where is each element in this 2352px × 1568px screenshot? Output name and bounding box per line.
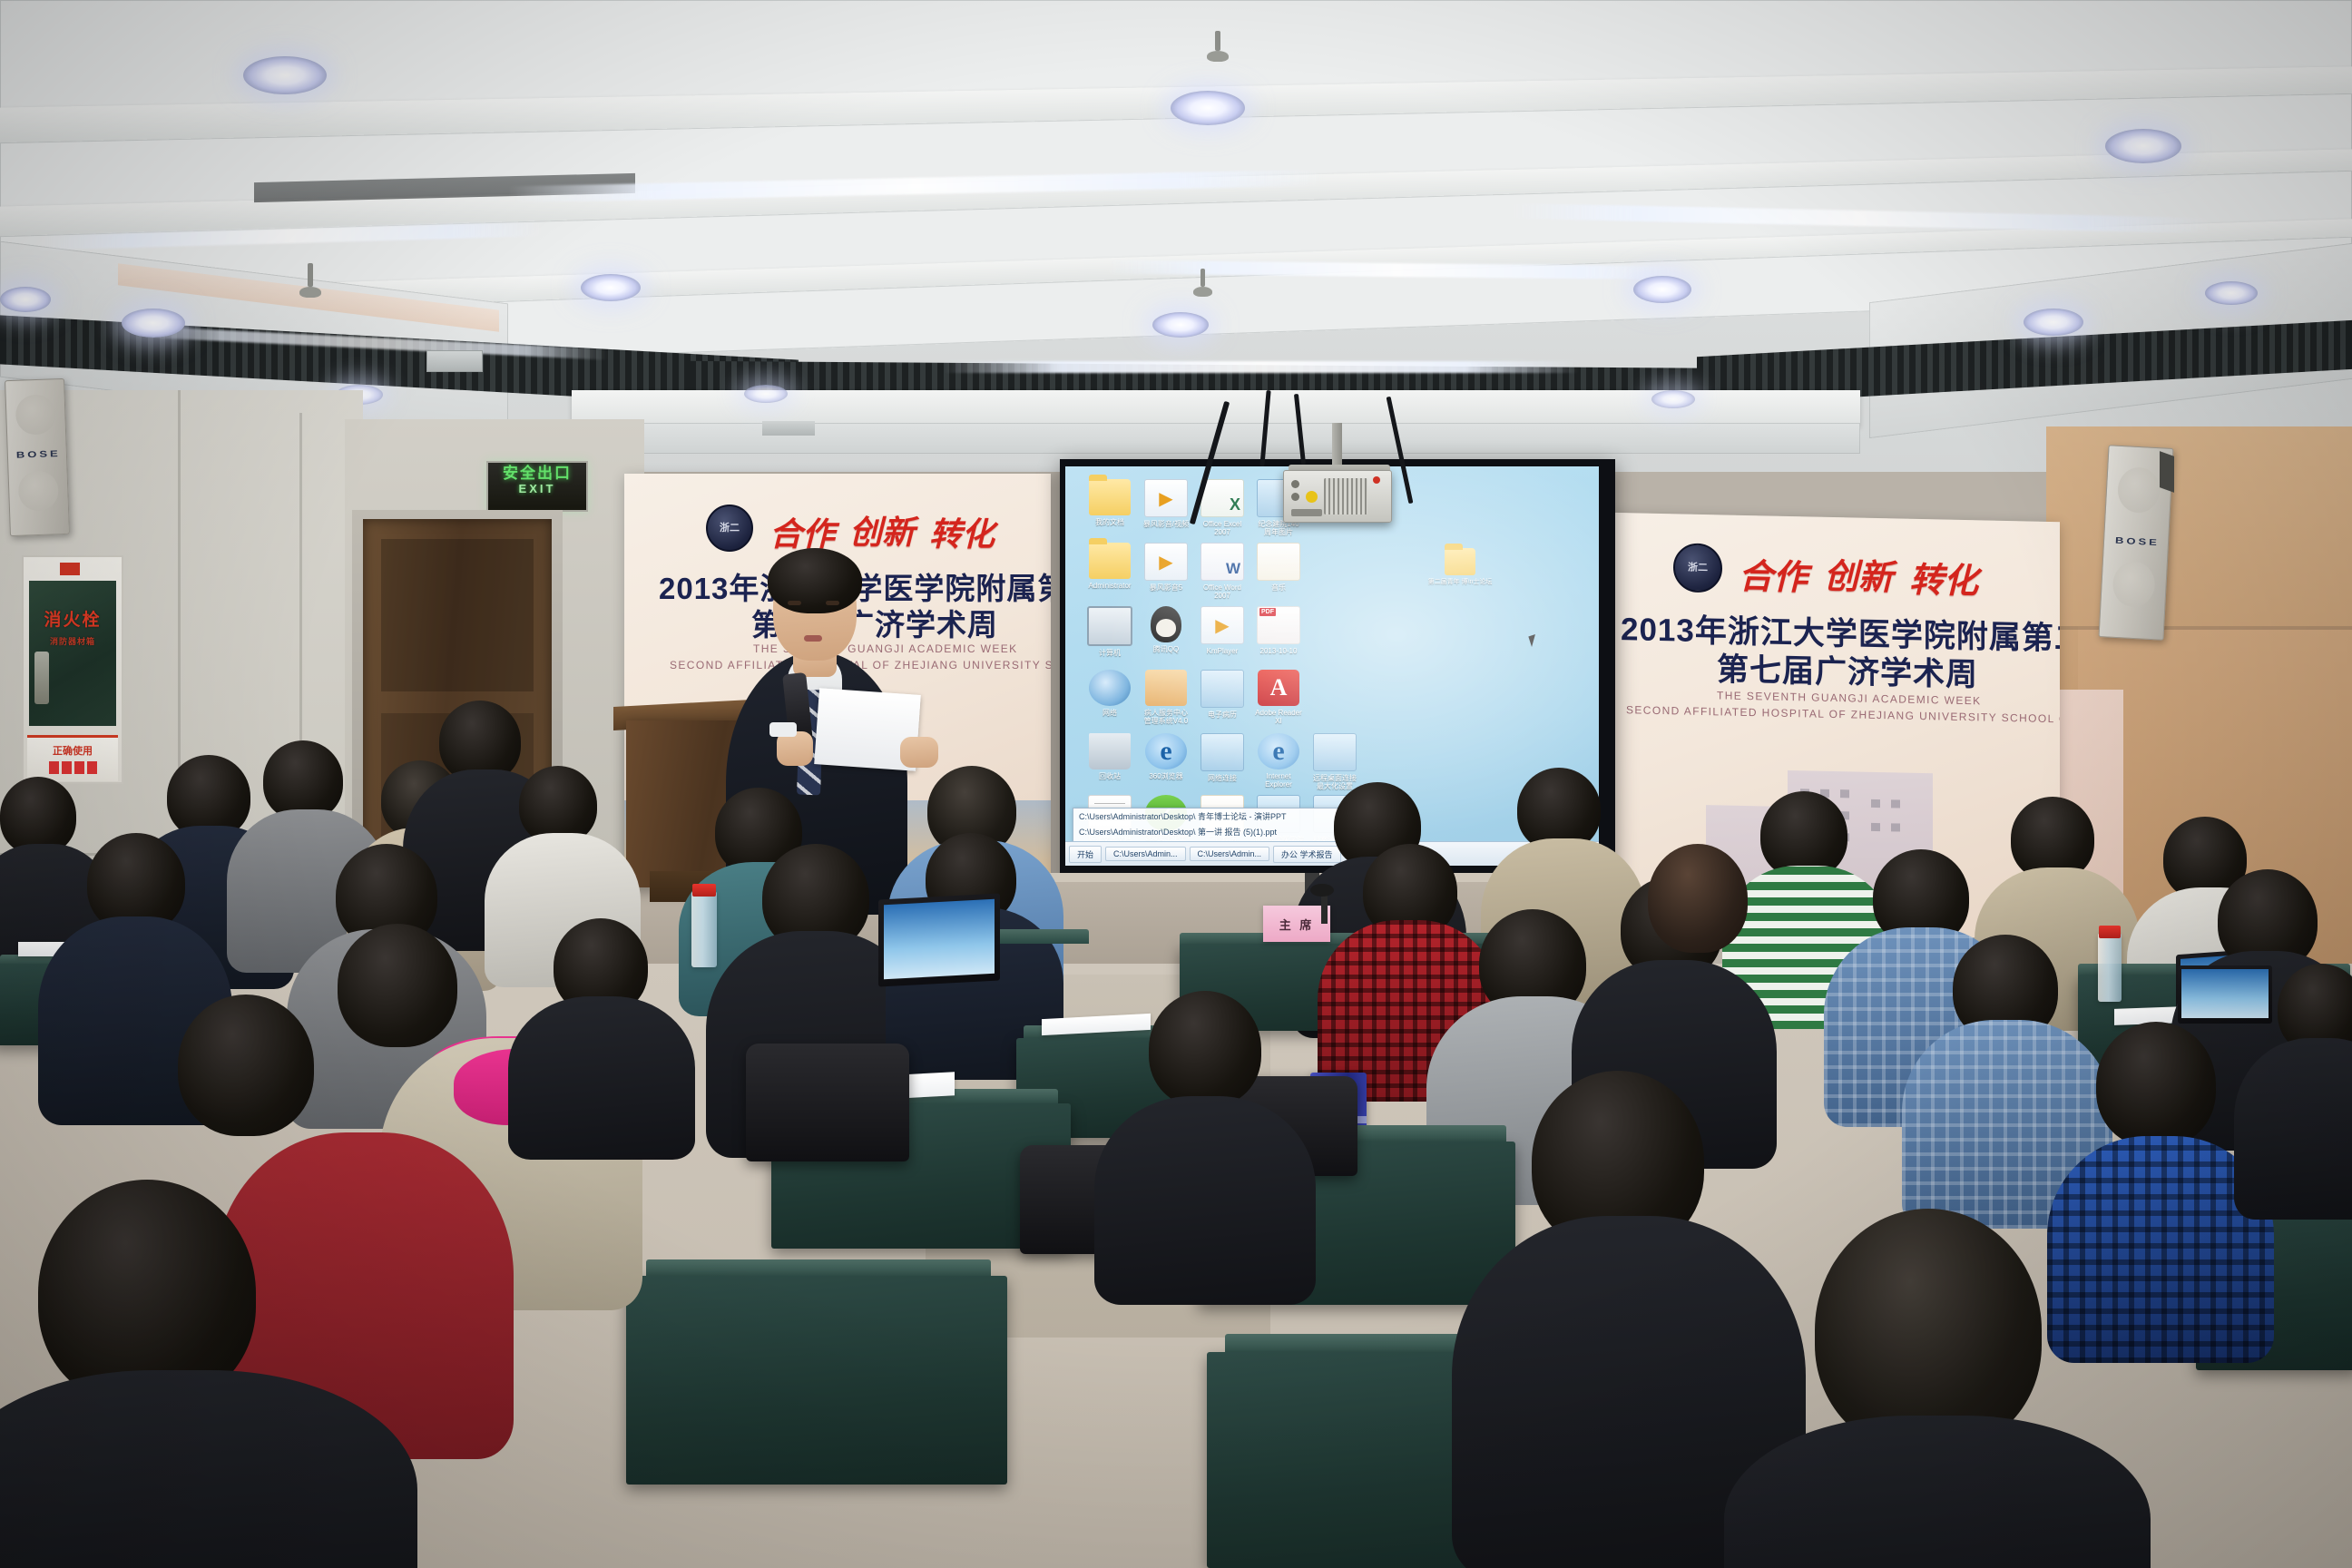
desktop-icon[interactable]: 浙江大学医学院 网络课堂 [1240, 795, 1318, 852]
audience-body [508, 996, 695, 1160]
audience-head [1648, 844, 1748, 953]
banner-right-title-line2: 第七届广济学术周 [1717, 643, 1978, 695]
hospital-emblem-left: 浙二 [706, 505, 753, 552]
taskbar-item[interactable]: C:\Users\Admin... [1105, 847, 1186, 861]
emblem-text-left: 浙二 [720, 524, 740, 534]
sprinkler-head [1207, 31, 1229, 62]
fire-instruction-placard: 正确使用 [27, 735, 118, 781]
desktop-icon[interactable]: 音乐 [1240, 543, 1318, 592]
water-bottle [691, 891, 717, 967]
file-path-row: C:\Users\Administrator\Desktop\ 第一讲 报告 (… [1073, 824, 1346, 839]
desktop-icon[interactable]: 远程桌面连接 最大化设置 [1296, 733, 1374, 790]
fire-cabinet-label: 消火栓 [29, 606, 116, 631]
desktop-icon[interactable]: 2013-10-10 [1240, 606, 1318, 655]
desktop-icon[interactable]: 腾讯QQ [1127, 606, 1205, 653]
desktop-icon[interactable]: Office Word 2007 [1183, 543, 1261, 600]
ceiling-diffuser [426, 350, 483, 372]
ceiling-downlight [2205, 281, 2258, 305]
ceiling-downlight [2105, 129, 2181, 163]
desktop-icon[interactable]: 计算机 [1071, 606, 1149, 657]
ceiling-downlight [744, 385, 788, 403]
desktop-icon[interactable]: 电子病历 [1183, 670, 1261, 719]
desktop-icon[interactable]: 回收站 [1071, 733, 1149, 780]
name-card: 主 席 [1263, 906, 1330, 942]
slogan-word-left-3: 转化 [929, 508, 995, 555]
desktop-icon[interactable]: 暴风影音5 [1127, 543, 1205, 592]
desktop-icon[interactable]: KmPlayer [1183, 606, 1261, 655]
audience-body [1094, 1096, 1316, 1305]
audience-head [178, 995, 314, 1136]
slogan-word-right-3: 转化 [1909, 552, 1978, 603]
slogan-word-right-2: 创新 [1824, 548, 1893, 600]
ceiling-downlight [1651, 390, 1695, 408]
projector [1283, 470, 1392, 523]
chair [746, 1044, 909, 1161]
exit-sign-label-en: EXIT [488, 483, 586, 495]
desktop-icon[interactable]: 我的文档 [1071, 479, 1149, 526]
slogan-word-right-1: 合作 [1739, 548, 1808, 600]
bose-logo-right: BOSE [2115, 535, 2160, 548]
emblem-text-right: 浙二 [1688, 563, 1708, 573]
desktop-icon[interactable]: Administrator [1071, 543, 1149, 590]
sprinkler-head [299, 263, 321, 298]
ceiling-downlight [581, 274, 641, 301]
ceiling-downlight [122, 309, 185, 338]
conference-room-photo: 安全出口 EXIT 消火栓 消防器材箱 正确使用 BOS [0, 0, 2352, 1568]
microphone-head [1310, 884, 1334, 897]
taskbar-item[interactable]: C:\Users\Admin... [1190, 847, 1270, 861]
fire-cabinet-sublabel: 消防器材箱 [29, 635, 116, 647]
bottle-cap [692, 884, 716, 897]
desktop-icon[interactable]: 网络 [1071, 670, 1149, 717]
bose-speaker-left: BOSE [5, 378, 70, 536]
desktop-icon[interactable]: 门诊病历 [1183, 795, 1261, 844]
exit-sign-label-cn: 安全出口 [488, 465, 586, 483]
mouse-cursor [1528, 634, 1538, 647]
desktop-icon[interactable]: 网络连接 [1183, 733, 1261, 782]
hospital-emblem-right: 浙二 [1673, 543, 1722, 593]
start-button[interactable]: 开始 [1069, 846, 1102, 863]
file-path-row: C:\Users\Administrator\Desktop\ 青年博士论坛 -… [1073, 808, 1346, 824]
taskbar-item[interactable]: 办公 学术报告 [1273, 846, 1341, 863]
presenter-eye [788, 601, 801, 605]
banner-right-subtitle-en2: SECOND AFFILIATED HOSPITAL OF ZHEJIANG U… [1626, 703, 2060, 727]
fire-hose-cabinet[interactable]: 消火栓 消防器材箱 正确使用 [22, 555, 123, 784]
ceiling-downlight [0, 287, 51, 312]
slogan-word-left-2: 创新 [849, 506, 915, 554]
audience-head [263, 740, 343, 820]
presenter-hair [768, 548, 862, 613]
water-bottle [2098, 933, 2122, 1002]
speaker-bracket [2160, 451, 2174, 493]
bottle-cap [2099, 926, 2121, 938]
desktop-icon[interactable]: Adobe Reader XI [1240, 670, 1318, 725]
sprinkler-head [1193, 269, 1212, 297]
desktop-icon[interactable]: 病人服务中心 管理系统V4.0 [1127, 670, 1205, 725]
ceiling-downlight [1152, 312, 1209, 338]
audience-desk [626, 1276, 1007, 1485]
presenter-cuff [769, 722, 797, 737]
desktop-icon[interactable]: 360安全卫士 [1127, 795, 1205, 842]
open-file-window[interactable]: C:\Users\Administrator\Desktop\ 青年博士论坛 -… [1073, 808, 1347, 848]
ceiling-diffuser [762, 421, 815, 436]
ceiling-downlight [1171, 91, 1245, 125]
ceiling-downlight [243, 56, 327, 94]
desktop-icon-folder-right[interactable]: 第二届青年 博\n士论坛 [1421, 548, 1499, 586]
presenter-eye [826, 601, 839, 605]
audience-head [1149, 991, 1261, 1107]
presenter-hand [900, 737, 938, 768]
presenter-mouth [804, 635, 822, 642]
audience-head [338, 924, 457, 1047]
projector-mount-pole [1332, 423, 1342, 470]
audience-head [2096, 1022, 2216, 1147]
audience-body [2234, 1038, 2352, 1220]
desktop-icon[interactable]: Internet Explorer [1240, 733, 1318, 789]
bose-logo-left: BOSE [16, 448, 61, 460]
ceiling-downlight [1633, 276, 1691, 303]
ceiling-downlight [2024, 309, 2083, 336]
laptop[interactable] [878, 893, 1000, 986]
desktop-icon[interactable]: 360浏览器 [1127, 733, 1205, 780]
fire-placard-text: 正确使用 [27, 743, 118, 758]
exit-sign: 安全出口 EXIT [486, 461, 588, 512]
laptop[interactable] [2178, 965, 2272, 1024]
desktop-icon[interactable]: 新建文本文档 [1071, 795, 1149, 844]
